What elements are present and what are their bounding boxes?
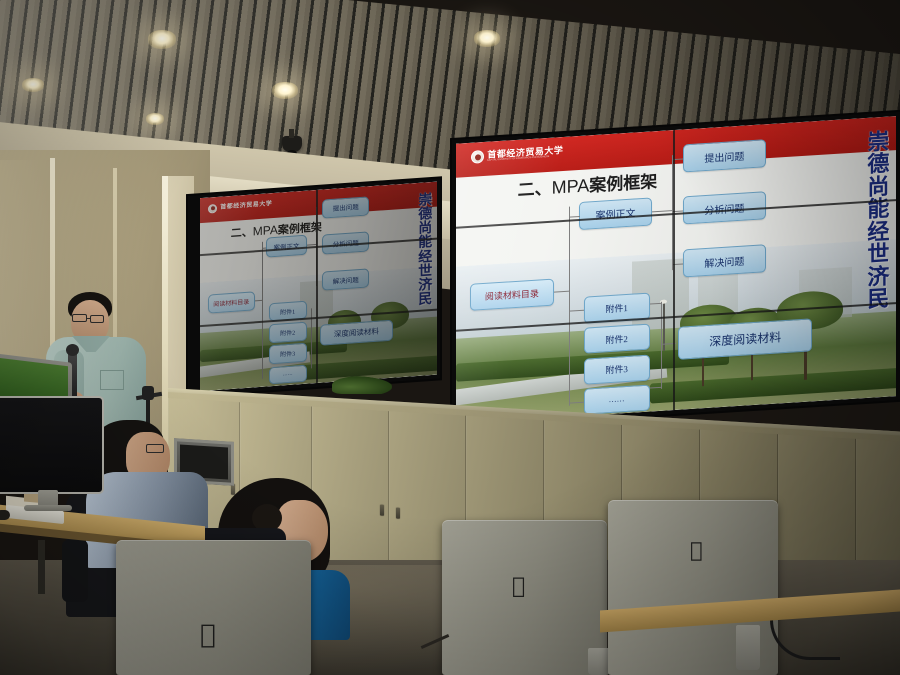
videowall-right-display: 首都经济贸易大学 CAPITAL UNIVERSITY OF ECONOMICS… — [456, 116, 896, 424]
presenter-glasses-bridge — [87, 318, 91, 319]
slide-right: 首都经济贸易大学 CAPITAL UNIVERSITY OF ECONOMICS… — [456, 116, 896, 424]
photo-hedge-2 — [650, 367, 896, 403]
university-seal-icon — [471, 150, 484, 164]
videowall-right[interactable]: 首都经济贸易大学 CAPITAL UNIVERSITY OF ECONOMICS… — [452, 112, 900, 428]
slide-background-photo — [456, 239, 896, 423]
motto-char-7: 民 — [867, 288, 889, 312]
slide-left: 首都经济贸易大学 二、MPA案例框架 崇 德 尚 能 经 世 济 民 阅读材料目… — [200, 182, 437, 392]
diagram-left-node-attachment-2[interactable]: 附件2 — [269, 322, 307, 343]
diagram-left-node-solve[interactable]: 解决问题 — [322, 268, 369, 291]
slide-left-background-photo — [200, 267, 437, 392]
slide-left-title-en: MPA — [253, 223, 278, 239]
slide-title-cn: 案例框架 — [589, 172, 657, 195]
diagram-node-attachment-3[interactable]: 附件3 — [584, 354, 650, 385]
slide-left-motto: 崇 德 尚 能 经 世 济 民 — [418, 193, 432, 308]
slide-title-en: MPA — [552, 176, 590, 198]
camera-mount — [289, 129, 294, 138]
plant-decor — [332, 376, 392, 394]
connector-attach-out-bracket — [661, 302, 662, 389]
slide-title: 二、MPA案例框架 — [518, 167, 658, 201]
presenter-pocket — [100, 370, 124, 390]
downlight-2-icon — [146, 113, 164, 125]
videowall-left[interactable]: 首都经济贸易大学 二、MPA案例框架 崇 德 尚 能 经 世 济 民 阅读材料目… — [188, 178, 440, 396]
microphone-head-icon — [66, 344, 79, 356]
downlight-1-icon — [22, 78, 44, 92]
room-photo-scene: 首都经济贸易大学 CAPITAL UNIVERSITY OF ECONOMICS… — [0, 0, 900, 675]
diagram-node-case-text[interactable]: 案例正文 — [579, 197, 652, 230]
diagram-left-node-attachment-more[interactable]: …… — [269, 364, 307, 384]
connector-left-attach-bracket — [262, 306, 263, 379]
imac-right-1-stand — [588, 648, 610, 675]
slide-title-prefix: 二、 — [518, 179, 552, 200]
chair-arm-left — [62, 540, 88, 602]
cabinet-handle-icon[interactable] — [380, 505, 384, 516]
imac-right-2-stand — [736, 625, 760, 670]
downlight-5-icon — [474, 30, 500, 47]
slide-motto: 崇 德 尚 能 经 世 济 民 — [867, 130, 889, 311]
diagram-node-raise-problem[interactable]: 提出问题 — [683, 140, 767, 173]
imac-front-left-foot — [24, 505, 72, 511]
imac-center-back — [116, 540, 311, 675]
presenter-glasses-icon — [90, 315, 104, 323]
apple-logo-icon:  — [690, 540, 703, 561]
diagram-node-attachment-more[interactable]: …… — [584, 385, 650, 414]
videowall-left-seam-v1 — [316, 190, 318, 383]
diagram-node-root[interactable]: 阅读材料目录 — [470, 279, 554, 311]
videowall-left-display: 首都经济贸易大学 二、MPA案例框架 崇 德 尚 能 经 世 济 民 阅读材料目… — [200, 182, 437, 392]
diagram-node-solve-problem[interactable]: 解决问题 — [683, 245, 767, 278]
connector-case-out — [652, 210, 672, 212]
mic-stand-clamp — [142, 386, 154, 400]
seated-man-glasses-icon — [146, 444, 164, 453]
motto-left-char-7: 民 — [418, 293, 432, 308]
imac-front-left[interactable] — [0, 396, 104, 494]
apple-logo-icon:  — [200, 622, 216, 648]
cabinet-handle-icon[interactable] — [396, 508, 400, 519]
connector-attach-bracket — [569, 299, 570, 405]
apple-logo-icon:  — [512, 576, 525, 598]
university-seal-left-icon — [208, 204, 217, 214]
imac-right-1[interactable]:  — [442, 520, 607, 675]
mouse-front-left[interactable] — [0, 510, 10, 520]
slide-left-title-prefix: 二、 — [231, 226, 253, 240]
imac-center[interactable]:  — [116, 540, 311, 675]
diagram-left-node-raise[interactable]: 提出问题 — [322, 196, 369, 219]
downlight-4-icon — [272, 82, 298, 99]
presenter-glasses-icon — [72, 314, 87, 322]
diagram-left-node-attachment-3[interactable]: 附件3 — [269, 343, 307, 364]
desk-leg — [38, 540, 45, 594]
imac-front-left-display — [0, 396, 104, 494]
downlight-3-icon — [148, 30, 176, 49]
diagram-left-node-root[interactable]: 阅读材料目录 — [208, 291, 255, 314]
videowall-seam-h1 — [456, 199, 896, 229]
videowall-seam-v1 — [673, 130, 675, 410]
diagram-node-attachment-2[interactable]: 附件2 — [584, 323, 650, 354]
